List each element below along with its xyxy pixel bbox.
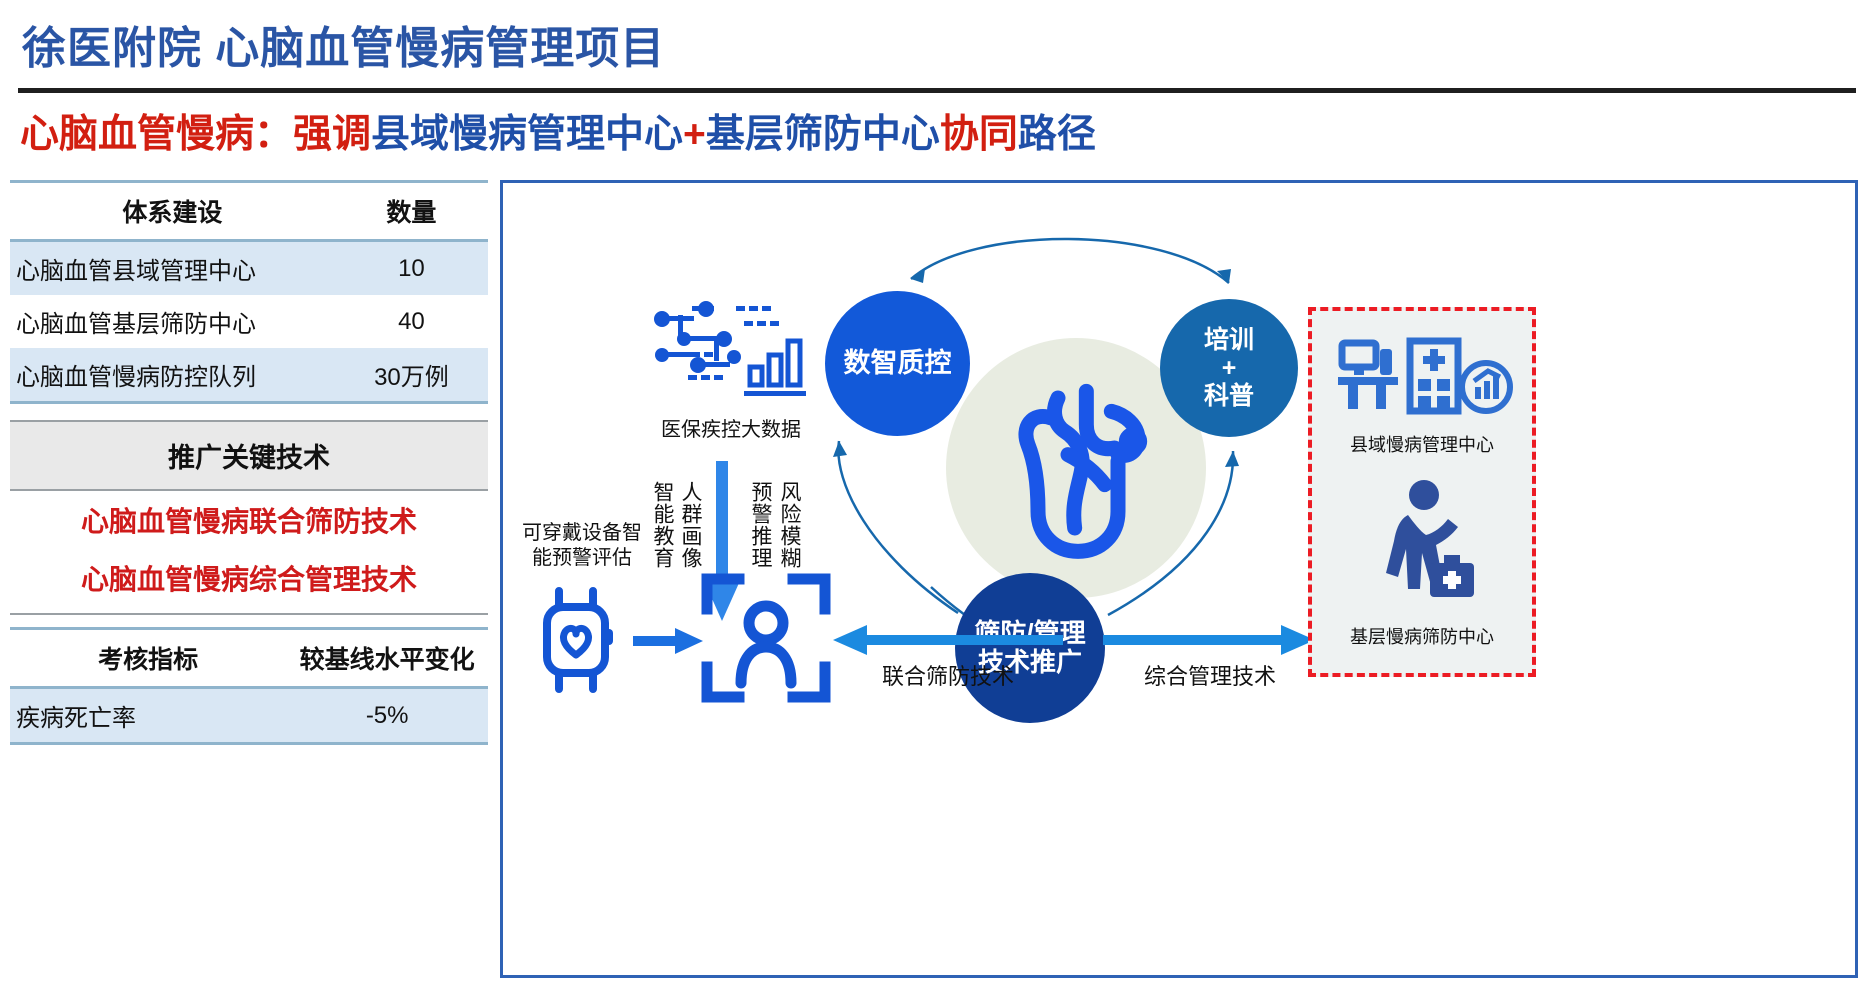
small-right-arrow-icon bbox=[633, 626, 703, 656]
subtitle-part-3: + bbox=[683, 113, 706, 156]
big-data-icon bbox=[648, 295, 813, 410]
column-header-change: 较基线水平变化 bbox=[286, 629, 488, 688]
circle-training-education[interactable]: 培训 + 科普 bbox=[1160, 299, 1298, 437]
arrow-label-joint-screening: 联合筛防技术 bbox=[853, 663, 1043, 691]
table-header-row: 体系建设 数量 bbox=[10, 182, 488, 241]
table-row: 疾病死亡率 -5% bbox=[10, 688, 488, 744]
subtitle-part-4: 基层筛防中心 bbox=[706, 113, 940, 156]
subtitle-part-5: 协同 bbox=[940, 113, 1018, 156]
column-header-system: 体系建设 bbox=[10, 182, 335, 241]
page-title: 徐医附院 心脑血管慢病管理项目 bbox=[22, 12, 665, 76]
wearable-device-label: 可穿戴设备智 能预警评估 bbox=[507, 521, 657, 571]
table-row: 心脑血管基层筛防中心 40 bbox=[10, 295, 488, 348]
subtitle-part-6: 路径 bbox=[1018, 113, 1096, 156]
person-scan-icon bbox=[701, 573, 831, 703]
spacer bbox=[10, 619, 488, 627]
dashed-box-caption-bottom: 基层慢病筛防中心 bbox=[1312, 623, 1532, 649]
table-row: 心脑血管县域管理中心 10 bbox=[10, 241, 488, 296]
vertical-label-warning-inference: 预警推理 bbox=[750, 481, 771, 569]
big-data-label: 医保疾控大数据 bbox=[631, 418, 831, 443]
dashed-highlight-box: 县域慢病管理中心 基层慢病筛防中心 bbox=[1308, 307, 1536, 677]
smartwatch-heart-icon bbox=[535, 583, 625, 698]
row-value: -5% bbox=[286, 688, 488, 744]
table-row: 心脑血管慢病防控队列 30万例 bbox=[10, 348, 488, 403]
column-header-kpi: 考核指标 bbox=[10, 629, 286, 688]
tech-item-1: 心脑血管慢病联合筛防技术 bbox=[10, 491, 488, 549]
heart-icon bbox=[993, 368, 1163, 568]
county-center-icons bbox=[1336, 337, 1516, 417]
tech-section-heading: 推广关键技术 bbox=[10, 420, 488, 491]
community-doctor-icon bbox=[1374, 479, 1479, 609]
right-arrow-comprehensive-management bbox=[1103, 623, 1315, 657]
column-header-count: 数量 bbox=[335, 182, 488, 241]
vertical-label-population-profile: 人群画像 bbox=[680, 481, 701, 569]
row-value: 40 bbox=[335, 295, 488, 348]
row-label: 疾病死亡率 bbox=[10, 688, 286, 744]
subtitle-part-2: 县域慢病管理中心 bbox=[371, 113, 683, 156]
row-value: 30万例 bbox=[335, 348, 488, 403]
subtitle-part-1: 心脑血管慢病：强调 bbox=[20, 113, 371, 156]
subtitle: 心脑血管慢病：强调县域慢病管理中心+基层筛防中心协同路径 bbox=[20, 110, 1096, 160]
spacer bbox=[10, 404, 488, 420]
circle-training-label: 培训 + 科普 bbox=[1204, 326, 1254, 410]
row-label: 心脑血管基层筛防中心 bbox=[10, 295, 335, 348]
title-divider bbox=[18, 88, 1856, 93]
row-value: 10 bbox=[335, 241, 488, 296]
system-build-table: 体系建设 数量 心脑血管县域管理中心 10 心脑血管基层筛防中心 40 心脑血管… bbox=[10, 180, 488, 404]
vertical-label-risk-fuzzy: 风险模糊 bbox=[779, 481, 800, 569]
diagram-panel: 数智质控 培训 + 科普 筛防/管理 技术推广 bbox=[500, 180, 1858, 978]
arrow-label-comprehensive-management: 综合管理技术 bbox=[1115, 663, 1305, 691]
left-column: 体系建设 数量 心脑血管县域管理中心 10 心脑血管基层筛防中心 40 心脑血管… bbox=[10, 180, 488, 745]
row-label: 心脑血管县域管理中心 bbox=[10, 241, 335, 296]
row-label: 心脑血管慢病防控队列 bbox=[10, 348, 335, 403]
table-header-row: 考核指标 较基线水平变化 bbox=[10, 629, 488, 688]
tech-item-2: 心脑血管慢病综合管理技术 bbox=[10, 549, 488, 607]
circle-data-quality-control[interactable]: 数智质控 bbox=[825, 291, 970, 436]
kpi-table: 考核指标 较基线水平变化 疾病死亡率 -5% bbox=[10, 627, 488, 745]
dashed-box-caption-top: 县域慢病管理中心 bbox=[1312, 431, 1532, 457]
left-arrow-joint-screening bbox=[833, 623, 1063, 657]
